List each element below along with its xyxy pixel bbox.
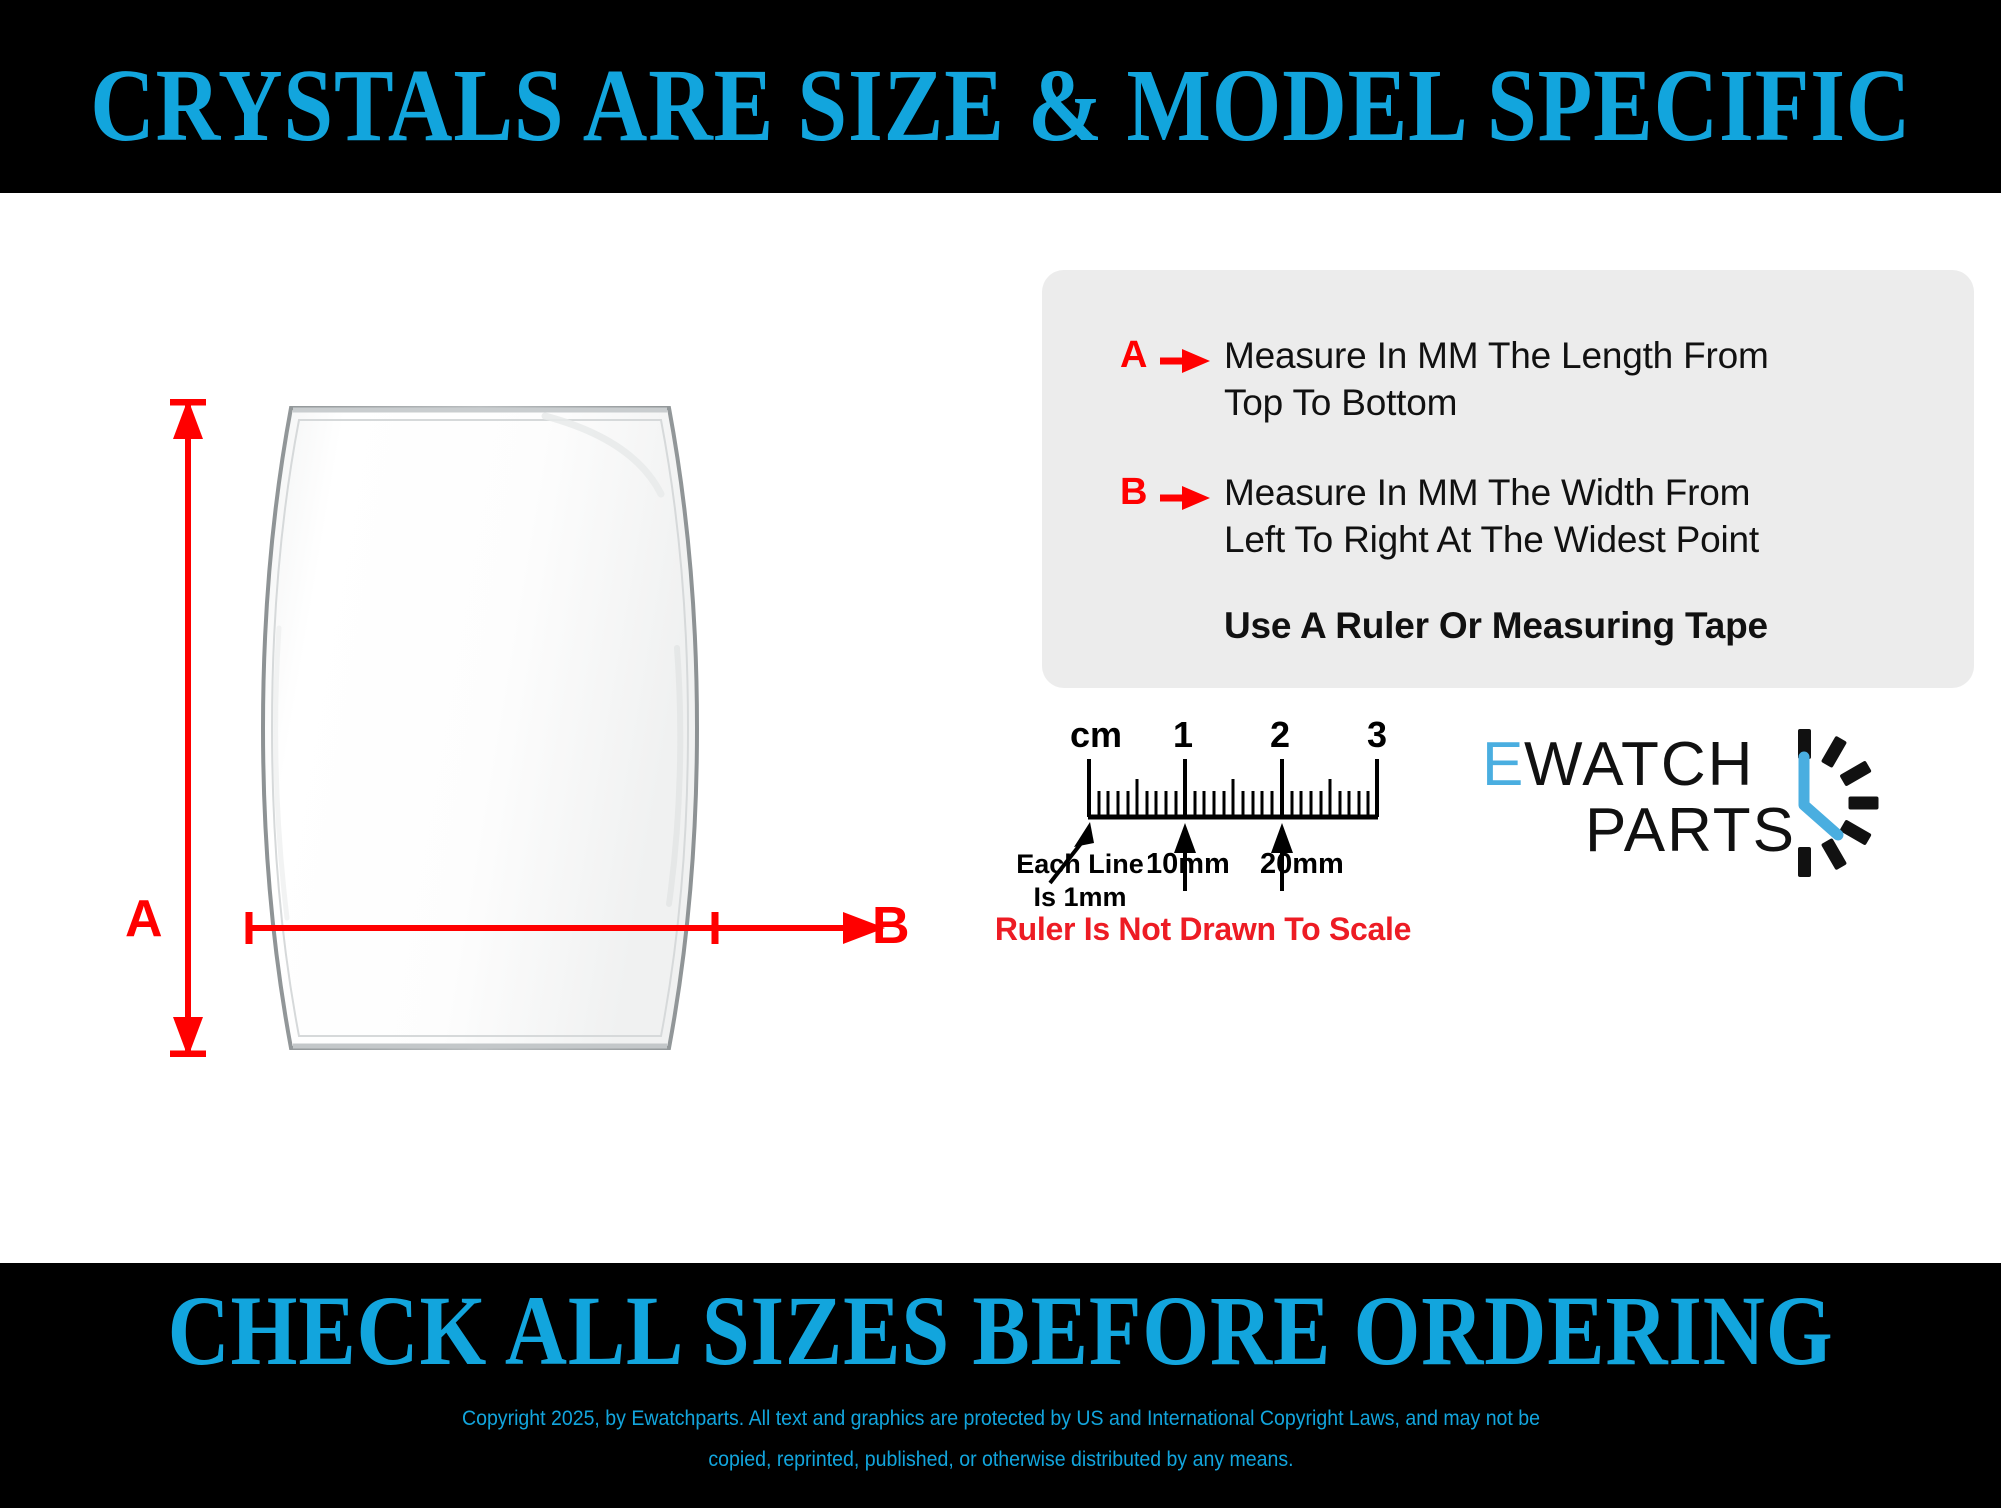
dimension-a-svg [168, 399, 208, 1057]
ruler-label-cm: cm [1070, 714, 1122, 755]
instruction-text-a: Measure In MM The Length From Top To Bot… [1212, 332, 1769, 427]
arrow-right-head [1182, 349, 1210, 373]
crystal-body [263, 408, 697, 1048]
crystal-shape-svg [245, 398, 715, 1058]
instruction-note: Use A Ruler Or Measuring Tape [1224, 605, 1934, 647]
top-banner-title: CRYSTALS ARE SIZE & MODEL SPECIFIC [90, 54, 1911, 158]
ruler-label-2: 2 [1270, 714, 1290, 755]
arrow-right-icon-svg [1158, 348, 1212, 374]
ruler-caption-each-line: Each Line Is 1mm [990, 848, 1170, 914]
instruction-text-a-line2: Top To Bottom [1224, 379, 1769, 426]
instruction-text-b-line2: Left To Right At The Widest Point [1224, 516, 1759, 563]
instruction-panel: A Measure In MM The Length From Top To B… [1042, 270, 1974, 688]
logo-word-watch: WATCH [1524, 730, 1754, 799]
instruction-text-b: Measure In MM The Width From Left To Rig… [1212, 469, 1759, 564]
dimension-b-svg [245, 908, 885, 948]
copyright-line-1: Copyright 2025, by Ewatchparts. All text… [303, 1399, 1698, 1440]
ruler-disclaimer: Ruler Is Not Drawn To Scale [978, 911, 1428, 948]
arrow-right-icon-svg [1158, 485, 1212, 511]
watch-face-icon [1798, 729, 1879, 877]
ruler-label-3: 3 [1367, 714, 1387, 755]
ruler-caption-20mm: 20mm [1260, 848, 1344, 881]
ruler-caption-each-line2: Is 1mm [990, 881, 1170, 914]
ruler-caption-10mm: 10mm [1146, 848, 1230, 881]
logo-prefix-e: E [1482, 730, 1525, 799]
watch-face-ticks [1798, 729, 1879, 877]
copyright-notice: Copyright 2025, by Ewatchparts. All text… [303, 1399, 1698, 1481]
ruler-caption-each-line1: Each Line [990, 848, 1170, 881]
bottom-banner: CHECK ALL SIZES BEFORE ORDERING Copyrigh… [0, 1263, 2001, 1508]
logo-word-parts: PARTS [1585, 796, 1796, 865]
instruction-key-b: B [1120, 469, 1158, 515]
arrow-right-icon [1158, 332, 1212, 379]
instruction-key-a: A [1120, 332, 1158, 378]
ruler-pointer-each-head [1074, 822, 1094, 847]
dimension-a-arrow [168, 399, 208, 1057]
ruler-label-1: 1 [1173, 714, 1193, 755]
bottom-banner-title: CHECK ALL SIZES BEFORE ORDERING [168, 1281, 1834, 1381]
instruction-text-b-line1: Measure In MM The Width From [1224, 469, 1759, 516]
instruction-row-a: A Measure In MM The Length From Top To B… [1120, 332, 1934, 427]
dimension-b-arrow [245, 908, 885, 948]
dimension-b-label: B [872, 900, 910, 952]
crystal-illustration [245, 398, 715, 1058]
arrow-right-head [1182, 486, 1210, 510]
logo-svg: E WATCH PARTS [1482, 723, 1882, 883]
arrow-right-icon [1158, 469, 1212, 516]
top-banner: CRYSTALS ARE SIZE & MODEL SPECIFIC [0, 0, 2001, 193]
main-content-area: A B A Measure In MM The Length From Top … [0, 193, 2001, 1263]
dimension-a-label: A [125, 893, 163, 945]
instruction-row-b: B Measure In MM The Width From Left To R… [1120, 469, 1934, 564]
copyright-line-2: copied, reprinted, published, or otherwi… [303, 1440, 1698, 1481]
ewatchparts-logo: E WATCH PARTS [1482, 723, 1882, 883]
instruction-text-a-line1: Measure In MM The Length From [1224, 332, 1769, 379]
watch-face-hands [1804, 757, 1838, 835]
